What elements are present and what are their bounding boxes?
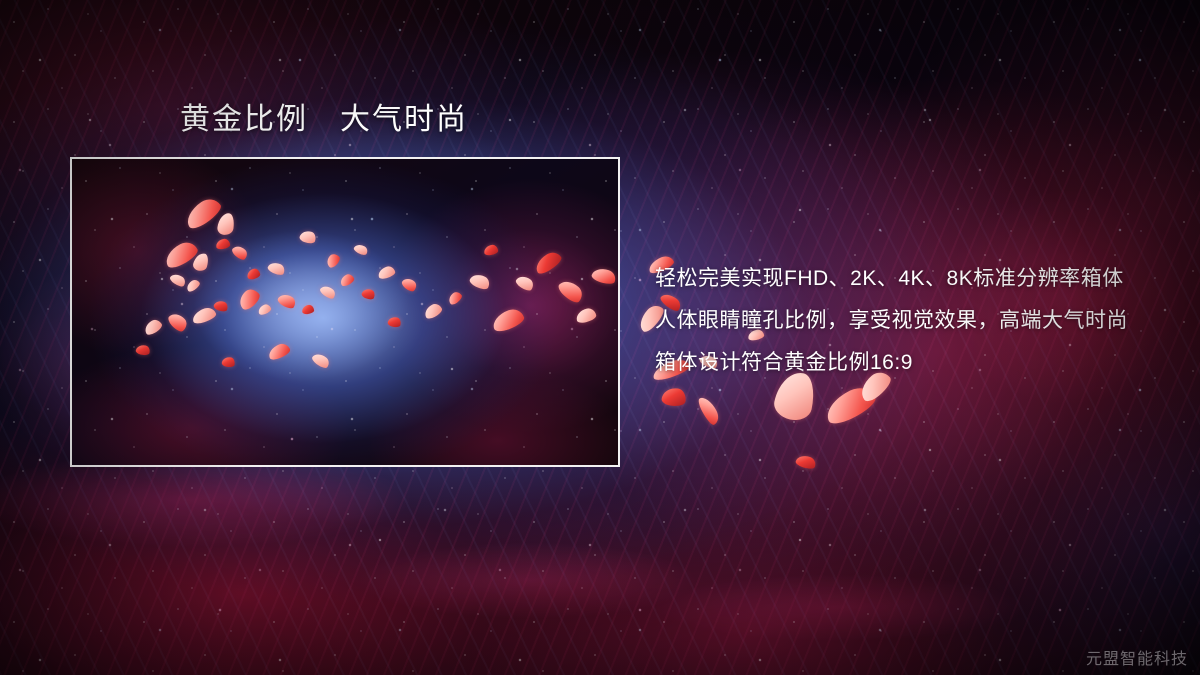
- body-copy: 轻松完美实现FHD、2K、4K、8K标准分辨率箱体 人体眼睛瞳孔比例，享受视觉效…: [655, 258, 1175, 384]
- body-line: 人体眼睛瞳孔比例，享受视觉效果，高端大气时尚: [655, 300, 1175, 342]
- photo-frame-image: [72, 159, 618, 465]
- page-title: 黄金比例 大气时尚: [180, 102, 468, 138]
- watermark: 元盟智能科技: [1086, 645, 1188, 669]
- petal: [821, 382, 879, 428]
- petal: [661, 386, 687, 407]
- petal: [795, 453, 818, 471]
- petal: [696, 394, 722, 427]
- presentation-slide: 黄金比例 大气时尚 轻松完美实现FHD、2K、4K、8K标准分辨率箱体 人体眼睛…: [0, 0, 1200, 675]
- photo-frame: [70, 157, 620, 467]
- body-line: 箱体设计符合黄金比例16:9: [655, 342, 1175, 384]
- body-line: 轻松完美实现FHD、2K、4K、8K标准分辨率箱体: [655, 258, 1175, 300]
